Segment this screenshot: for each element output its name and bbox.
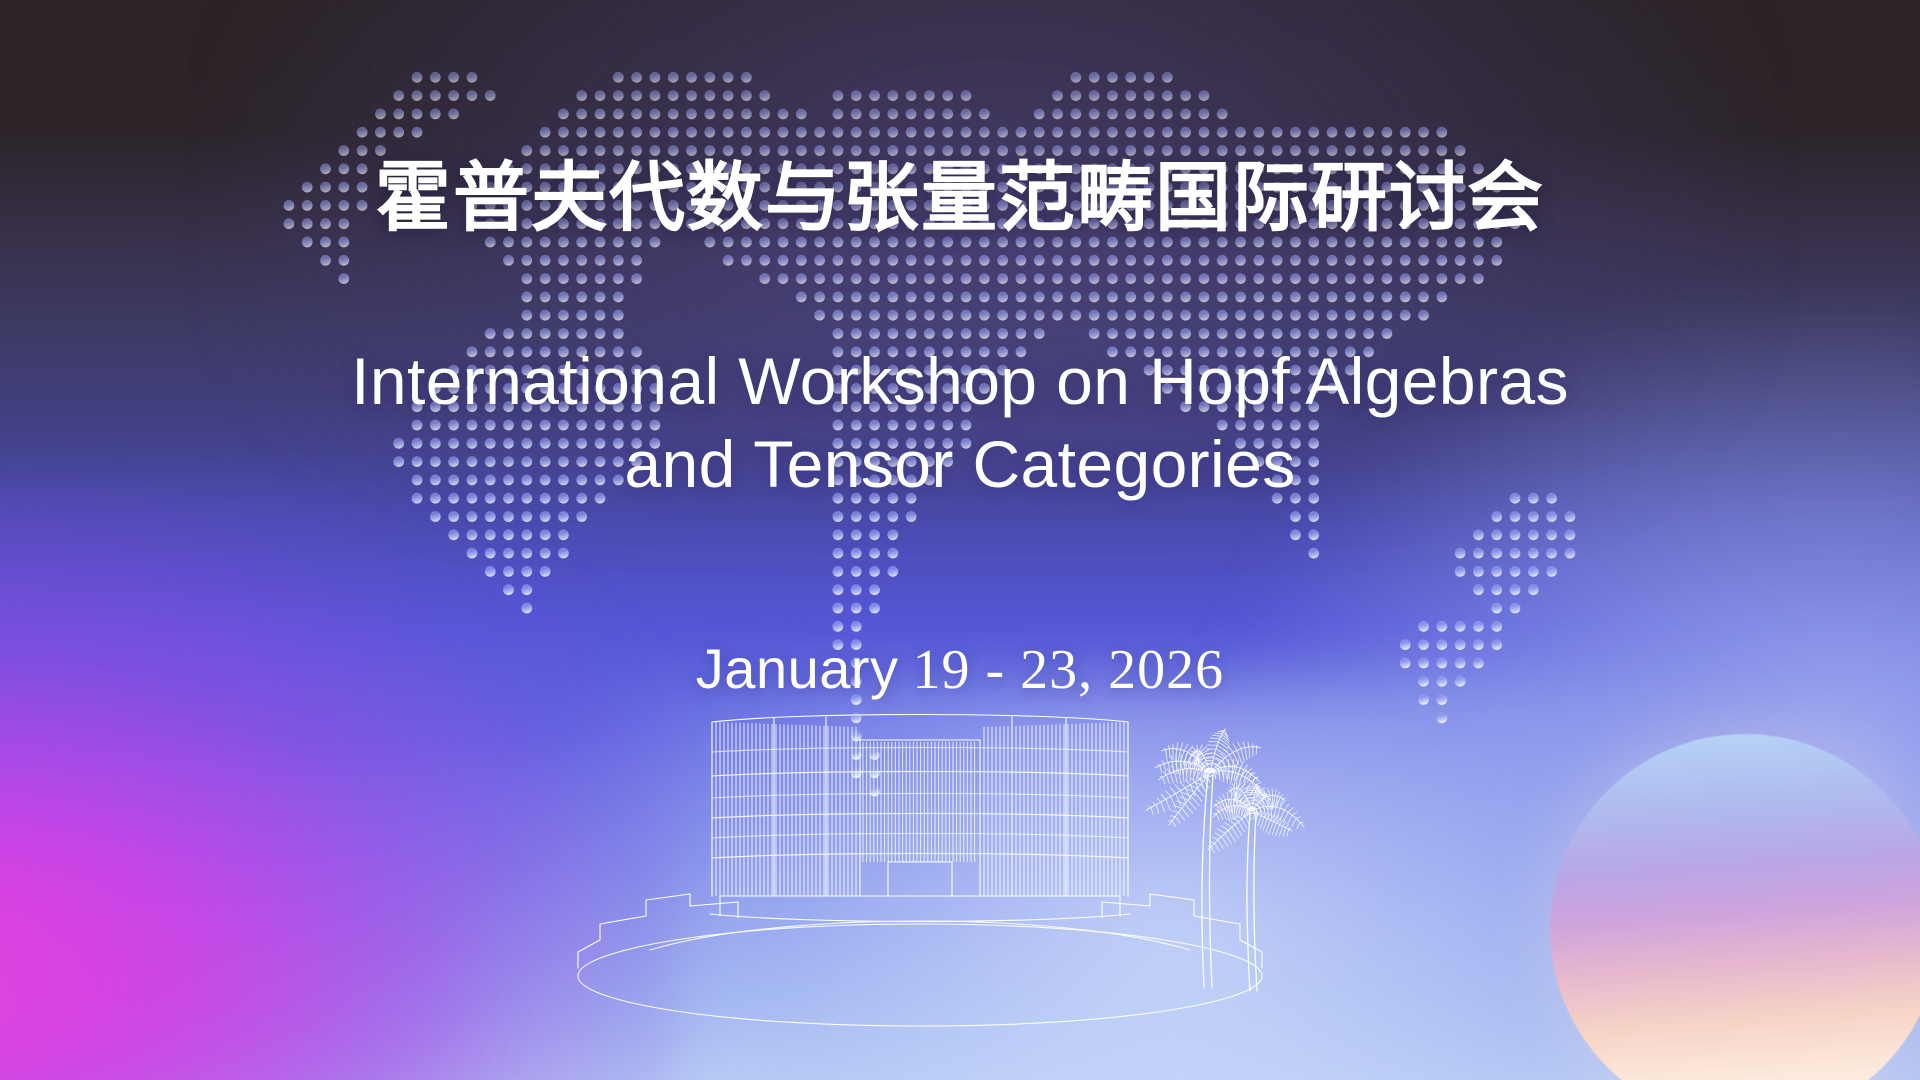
conference-poster: 霍普夫代数与张量范畴国际研讨会 International Workshop o…	[0, 0, 1920, 1080]
palm-trees-icon	[1100, 705, 1380, 1005]
title-line-2: and Tensor Categories	[0, 423, 1920, 506]
title-line-1: International Workshop on Hopf Algebras	[0, 340, 1920, 423]
event-date-month: January	[696, 637, 899, 700]
page-title-english: International Workshop on Hopf Algebras …	[0, 340, 1920, 506]
event-date-range: 19 - 23, 2026	[913, 639, 1225, 701]
page-title-chinese: 霍普夫代数与张量范畴国际研讨会	[0, 159, 1920, 240]
event-date: January19 - 23, 2026	[0, 636, 1920, 702]
